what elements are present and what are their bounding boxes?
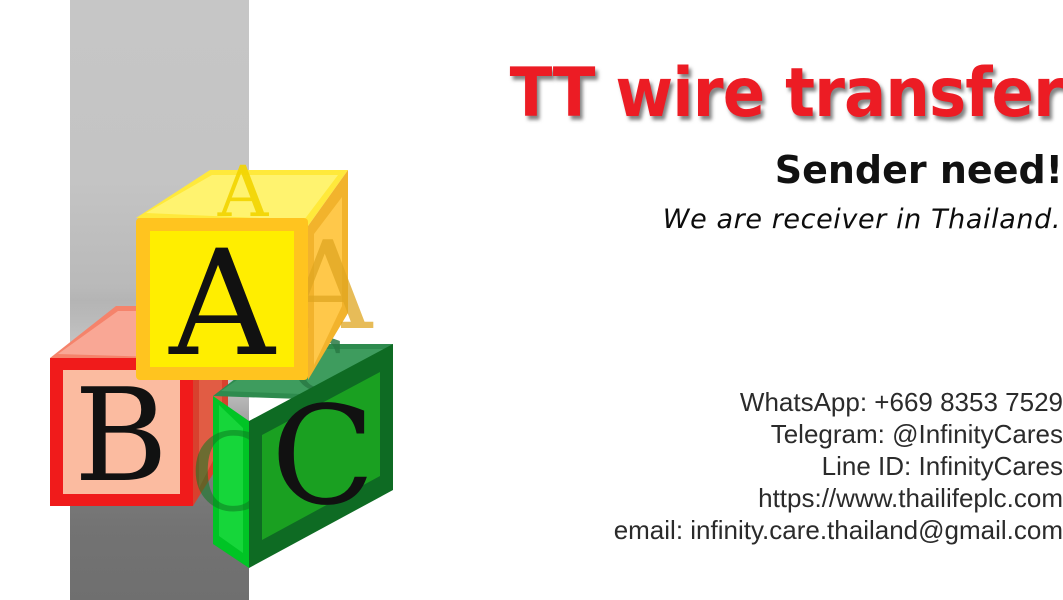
block-letter-c: C xyxy=(271,378,375,536)
block-a-yellow: A A A xyxy=(136,158,374,389)
contact-line-website[interactable]: https://www.thailifeplc.com xyxy=(363,482,1063,514)
contact-line-email[interactable]: email: infinity.care.thailand@gmail.com xyxy=(363,514,1063,546)
contact-line-whatsapp[interactable]: WhatsApp: +669 8353 7529 xyxy=(363,386,1063,418)
tagline-receiver-thailand: We are receiver in Thailand. xyxy=(361,204,1061,236)
business-card-canvas: B C C C xyxy=(0,0,1063,600)
block-letter-a: A xyxy=(168,219,276,389)
block-letter-b: B xyxy=(74,362,168,511)
contact-details-block: WhatsApp: +669 8353 7529 Telegram: @Infi… xyxy=(363,386,1063,546)
subtitle-sender-need: Sender need! xyxy=(363,150,1063,192)
contact-line-telegram[interactable]: Telegram: @InfinityCares xyxy=(363,418,1063,450)
page-title: TT wire transfer xyxy=(419,60,1063,128)
contact-line-line-id[interactable]: Line ID: InfinityCares xyxy=(363,450,1063,482)
